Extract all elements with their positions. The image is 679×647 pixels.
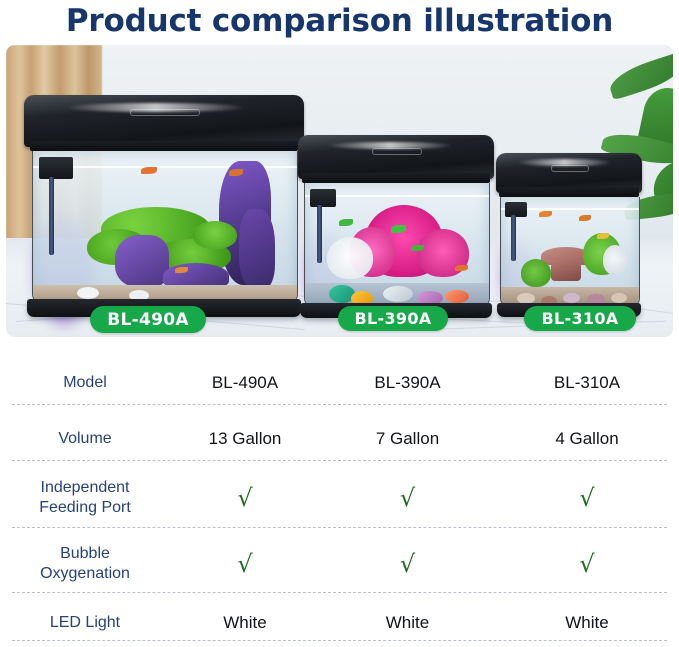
row-label: Model — [0, 373, 170, 393]
fish — [455, 265, 468, 271]
spec-comparison-table: Model BL-490A BL-390A BL-310A Volume 13 … — [0, 340, 679, 647]
table-row: Volume 13 Gallon 7 Gallon 4 Gallon — [0, 420, 679, 458]
row-divider — [12, 640, 667, 641]
row-divider — [12, 404, 667, 405]
aquarium-tank-medium — [298, 135, 494, 325]
table-row: Independent Feeding Port √ √ √ — [0, 472, 679, 524]
table-row: LED Light White White White — [0, 604, 679, 642]
row-label-line1: Bubble — [0, 544, 170, 564]
check-icon: √ — [495, 552, 679, 576]
tank-glass — [32, 151, 297, 304]
tank-glass — [304, 183, 490, 308]
rock-decoration — [239, 209, 275, 289]
shell-decoration — [383, 286, 413, 302]
fish — [391, 225, 406, 233]
model-badge-bl-390a: BL-390A — [338, 306, 448, 331]
check-icon: √ — [320, 552, 495, 576]
lid-lip — [30, 141, 299, 151]
table-row: Model BL-490A BL-390A BL-310A — [0, 364, 679, 402]
row-divider — [12, 460, 667, 461]
row-value: White — [170, 613, 320, 633]
rock-decoration — [115, 235, 169, 287]
filter-pump — [505, 202, 527, 217]
white-coral — [327, 237, 373, 279]
row-label-line2: Feeding Port — [0, 498, 170, 518]
fish — [579, 215, 591, 221]
fish — [411, 245, 424, 251]
row-divider — [12, 592, 667, 593]
row-label: Volume — [0, 429, 170, 449]
product-photo — [6, 45, 673, 337]
aquatic-plant — [521, 259, 551, 287]
table-row: Bubble Oxygenation √ √ √ — [0, 538, 679, 590]
row-divider — [12, 527, 667, 528]
row-label: LED Light — [0, 613, 170, 633]
white-coral — [603, 245, 627, 275]
row-value: BL-490A — [170, 373, 320, 393]
fish — [539, 211, 552, 217]
row-label-line1: Independent — [0, 478, 170, 498]
aquatic-plant — [193, 221, 237, 249]
row-value: BL-390A — [320, 373, 495, 393]
page-title: Product comparison illustration — [0, 0, 679, 42]
row-value: 4 Gallon — [495, 429, 679, 449]
check-icon: √ — [320, 486, 495, 510]
product-comparison-page: Product comparison illustration — [0, 0, 679, 647]
tank-lid — [24, 95, 304, 147]
filter-pump — [310, 189, 336, 207]
tank-glass — [500, 197, 639, 308]
hut-body-decoration — [551, 261, 581, 281]
lid-lip — [499, 187, 639, 197]
photo-scene — [6, 45, 673, 337]
row-value: 7 Gallon — [320, 429, 495, 449]
row-label: Bubble Oxygenation — [0, 544, 170, 585]
feeding-port-slot — [551, 165, 588, 172]
model-badge-bl-310a: BL-310A — [524, 306, 636, 331]
row-label: Independent Feeding Port — [0, 478, 170, 519]
check-icon: √ — [170, 552, 320, 576]
fish — [141, 167, 157, 174]
feeding-port-slot — [372, 148, 421, 155]
feeding-port-slot — [130, 109, 199, 116]
check-icon: √ — [495, 486, 679, 510]
row-value: White — [320, 613, 495, 633]
pump-tube — [317, 205, 322, 263]
model-badge-bl-490a: BL-490A — [90, 306, 206, 333]
row-value: 13 Gallon — [170, 429, 320, 449]
row-value: BL-310A — [495, 373, 679, 393]
row-value: White — [495, 613, 679, 633]
pump-tube — [49, 177, 54, 255]
lid-lip — [302, 173, 490, 183]
row-label-line2: Oxygenation — [0, 564, 170, 584]
aquarium-tank-small — [496, 153, 642, 325]
starfish-decoration — [445, 290, 469, 303]
fish — [339, 219, 353, 226]
aquarium-tank-large — [24, 95, 304, 325]
check-icon: √ — [170, 486, 320, 510]
filter-pump — [39, 157, 73, 179]
pump-tube — [511, 215, 516, 261]
